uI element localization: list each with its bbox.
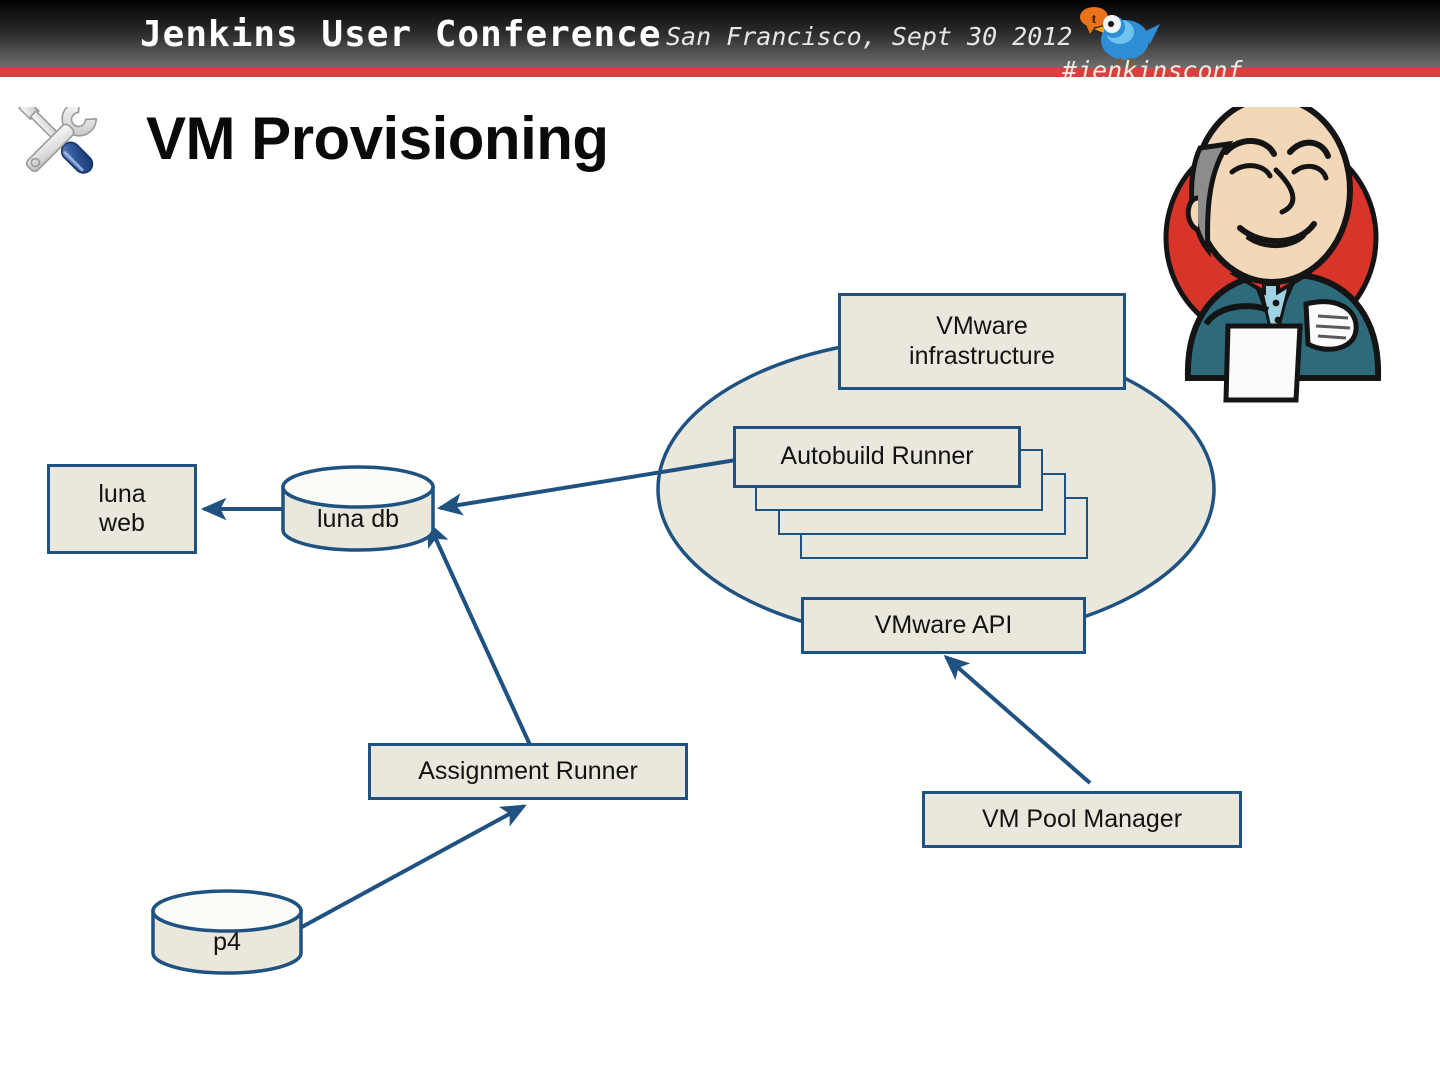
- edge-vm-pool-manager-to-vmware-api: [946, 657, 1090, 783]
- node-luna-web[interactable]: luna web: [47, 464, 197, 554]
- node-vmware-infrastructure[interactable]: VMware infrastructure: [838, 293, 1126, 390]
- node-luna-web-line1: luna: [98, 480, 145, 508]
- header-body-mask: [0, 77, 1440, 107]
- node-vmware-infrastructure-line2: infrastructure: [909, 342, 1055, 370]
- node-luna-db-label: luna db: [283, 505, 433, 534]
- edge-assignment-runner-to-luna-db: [429, 524, 530, 745]
- node-vmware-api-label: VMware API: [875, 611, 1013, 641]
- node-vmware-api[interactable]: VMware API: [801, 597, 1086, 654]
- node-autobuild-runner-1-label: Autobuild Runner: [780, 442, 973, 472]
- node-vmware-infrastructure-line1: VMware: [936, 312, 1028, 340]
- node-assignment-runner[interactable]: Assignment Runner: [368, 743, 688, 800]
- node-p4-label: p4: [153, 928, 301, 957]
- node-vm-pool-manager[interactable]: VM Pool Manager: [922, 791, 1242, 848]
- edge-p4-to-assignment-runner: [300, 806, 524, 928]
- vm-provisioning-diagram: [0, 0, 1440, 1080]
- node-vm-pool-manager-label: VM Pool Manager: [982, 805, 1182, 835]
- node-assignment-runner-label: Assignment Runner: [418, 757, 638, 787]
- node-autobuild-runner-1[interactable]: Autobuild Runner: [733, 426, 1021, 488]
- node-luna-web-line2: web: [99, 509, 145, 537]
